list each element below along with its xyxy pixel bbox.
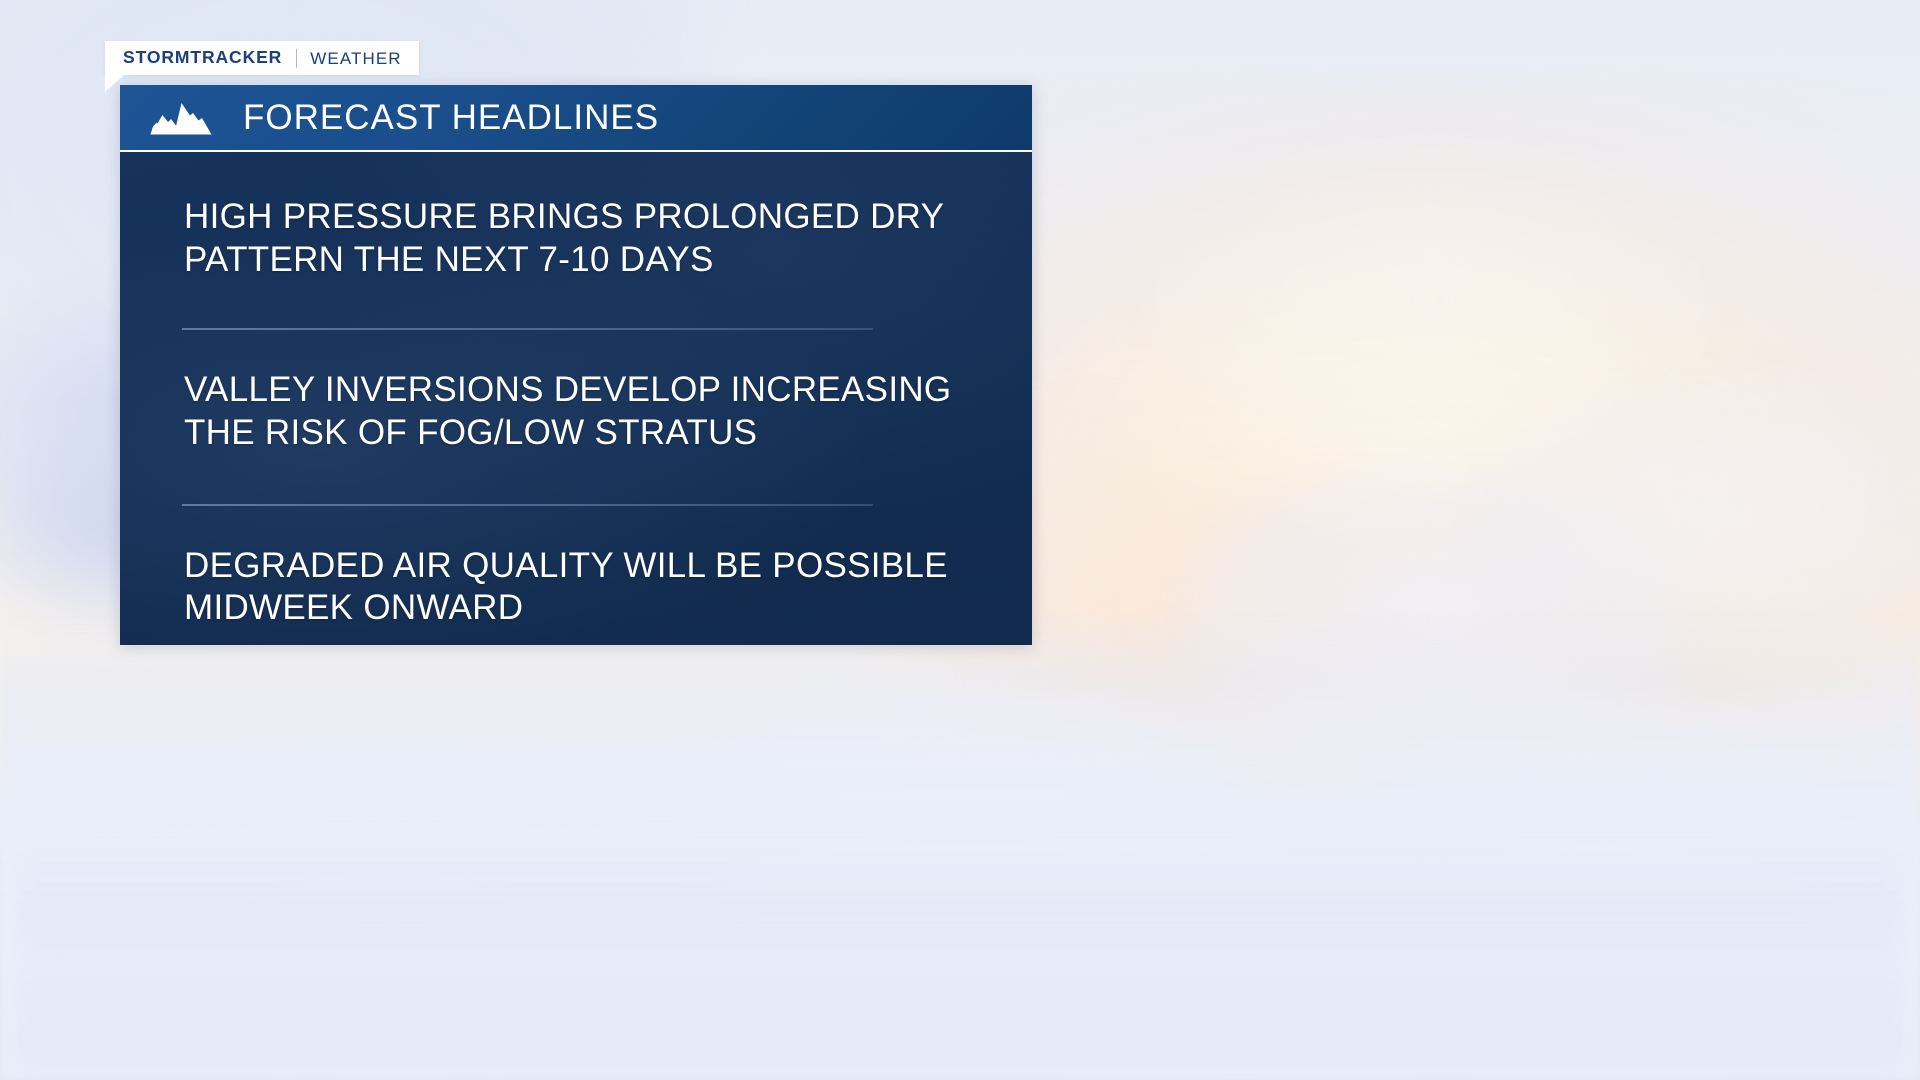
forecast-headlines-panel: FORECAST HEADLINES HIGH PRESSURE BRINGS …: [120, 85, 1032, 645]
panel-title: FORECAST HEADLINES: [243, 100, 659, 135]
headline-line: PATTERN THE NEXT 7-10 DAYS: [184, 239, 992, 282]
headline-line: DEGRADED AIR QUALITY WILL BE POSSIBLE: [184, 545, 992, 588]
brand-separator: [296, 49, 297, 68]
panel-header: FORECAST HEADLINES: [120, 85, 1032, 152]
branding-tab: STORMTRACKER WEATHER: [105, 41, 419, 75]
brand-tab-notch: [105, 75, 124, 92]
headline-line: MIDWEEK ONWARD: [184, 587, 992, 630]
cloud-deck-lower: [0, 780, 1920, 1080]
mountain-icon: [150, 101, 212, 135]
cloud-puff: [1150, 150, 1710, 450]
brand-secondary-label: WEATHER: [310, 50, 401, 67]
headline-line: VALLEY INVERSIONS DEVELOP INCREASING: [184, 369, 992, 412]
headline-line: THE RISK OF FOG/LOW STRATUS: [184, 412, 992, 455]
headline-line: HIGH PRESSURE BRINGS PROLONGED DRY: [184, 196, 992, 239]
brand-primary-label: STORMTRACKER: [123, 49, 282, 67]
panel-body: HIGH PRESSURE BRINGS PROLONGED DRY PATTE…: [120, 152, 1032, 645]
headline-item: HIGH PRESSURE BRINGS PROLONGED DRY PATTE…: [120, 152, 1032, 281]
headline-item: VALLEY INVERSIONS DEVELOP INCREASING THE…: [120, 330, 1032, 454]
headline-item: DEGRADED AIR QUALITY WILL BE POSSIBLE MI…: [120, 506, 1032, 630]
